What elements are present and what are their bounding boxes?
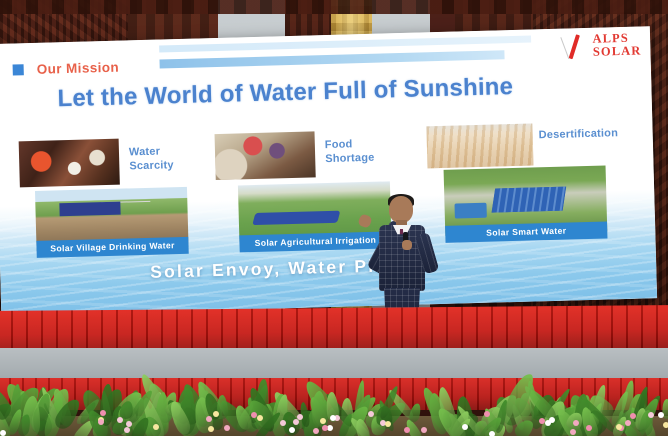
plant-flower: [489, 431, 495, 436]
content-column-food: FoodShortage Solar Agricultural Irrigati…: [215, 129, 422, 195]
presentation-slide: Our Mission ALPS SOLAR Let the World of …: [0, 26, 657, 316]
plant-flower: [224, 425, 230, 431]
projection-screen: Our Mission ALPS SOLAR Let the World of …: [0, 26, 657, 316]
section-header: Our Mission: [12, 58, 119, 79]
plant-flower: [98, 419, 104, 425]
plant-flower: [658, 412, 664, 418]
plant-flower: [124, 427, 130, 433]
slide-headline: Let the World of Water Full of Sunshine: [57, 73, 513, 113]
presentation-scene: Our Mission ALPS SOLAR Let the World of …: [0, 0, 668, 436]
logo-line-2: SOLAR: [593, 44, 642, 58]
alps-peak-mark-icon: [561, 33, 588, 60]
plant-flower: [549, 417, 555, 423]
speaker-mic-hand: [402, 240, 412, 250]
issue-label-desertification: Desertification: [539, 127, 619, 143]
issue-label-water-scarcity: WaterScarcity: [129, 145, 174, 174]
ceiling-trim: [0, 0, 668, 14]
plant-flower: [280, 420, 286, 426]
speaker-head: [389, 196, 413, 223]
content-column-water: WaterScarcity Solar Village Drinking Wat…: [19, 136, 226, 202]
plant-flower: [313, 428, 319, 434]
content-column-desert: Desertification Solar Smart Water: [426, 119, 643, 191]
plant-flower: [404, 427, 410, 433]
plant-flower: [421, 427, 427, 433]
plant-flower: [251, 412, 257, 418]
farmers-harvest-photo: [215, 131, 316, 180]
plant-flower: [573, 420, 579, 426]
alps-solar-logo: ALPS SOLAR: [561, 31, 641, 59]
issue-label-food-shortage: FoodShortage: [325, 138, 375, 167]
plant-flower: [663, 422, 668, 428]
plant-flower: [625, 420, 631, 426]
plant-flower: [0, 430, 6, 436]
plant-flower: [368, 411, 374, 417]
square-bullet-icon: [13, 64, 24, 75]
potted-green-plants-row: [0, 352, 668, 436]
plant-flower: [257, 415, 263, 421]
children-drinking-water-photo: [19, 139, 120, 188]
dry-desert-landscape-photo: [426, 123, 533, 168]
section-label: Our Mission: [36, 59, 119, 76]
header-accent-bar: [159, 50, 504, 68]
